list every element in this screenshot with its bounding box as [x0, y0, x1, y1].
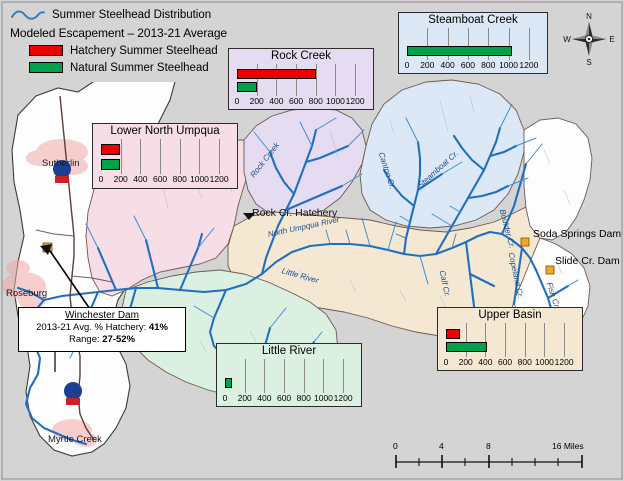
axis-upper-basin: 020040060080010001200 [446, 357, 574, 370]
gridline [304, 359, 305, 393]
legend-natural-row: Natural Summer Steelhead [10, 59, 222, 76]
gridline [316, 64, 317, 96]
bar-natural [237, 82, 257, 92]
tick-label: 800 [309, 96, 323, 106]
scale-label-16-miles: 16 Miles [552, 441, 584, 451]
compass-east-label: E [609, 35, 614, 44]
gridline [264, 359, 265, 393]
scale-label-4: 4 [439, 441, 444, 451]
bar-natural [225, 378, 232, 388]
tick-label: 400 [257, 393, 271, 403]
legend-hatchery-label: Hatchery Summer Steelhead [70, 45, 218, 57]
tick-label: 1200 [210, 174, 229, 184]
tick-label: 400 [478, 357, 492, 367]
tick-label: 0 [405, 60, 410, 70]
compass-north-label: N [586, 12, 592, 21]
stream-wave-icon [10, 8, 46, 22]
chart-steamboat-creek: Steamboat Creek 020040060080010001200 [398, 12, 548, 74]
bar-hatchery [446, 329, 460, 339]
gridline [199, 139, 200, 174]
gridline [140, 139, 141, 174]
tick-label: 600 [289, 96, 303, 106]
tick-label: 200 [459, 357, 473, 367]
gridline [355, 64, 356, 96]
compass-west-label: W [563, 35, 571, 44]
tick-label: 800 [173, 174, 187, 184]
legend-hatchery-row: Hatchery Summer Steelhead [10, 42, 222, 59]
bar-hatchery [101, 144, 120, 155]
plot-area-little-river [225, 359, 353, 393]
chart-title-upper-basin: Upper Basin [438, 308, 582, 323]
axis-little-river: 020040060080010001200 [225, 393, 353, 406]
legend-distribution-row: Summer Steelhead Distribution [10, 6, 222, 24]
plot-area-lower-north-umpqua [101, 139, 229, 174]
scale-bar: 0 4 8 16 Miles [392, 440, 586, 470]
legend-subtitle-row: Modeled Escapement – 2013-21 Average [10, 24, 222, 42]
tick-label: 1000 [314, 393, 333, 403]
gridline [529, 28, 530, 60]
tick-label: 200 [420, 60, 434, 70]
callout-hatchery-prefix: 2013-21 Avg. % Hatchery: [36, 322, 149, 333]
tick-label: 0 [99, 174, 104, 184]
gridline [121, 139, 122, 174]
tick-label: 200 [114, 174, 128, 184]
tick-label: 0 [444, 357, 449, 367]
tick-label: 800 [481, 60, 495, 70]
tick-label: 600 [277, 393, 291, 403]
legend-distribution-label: Summer Steelhead Distribution [52, 9, 211, 21]
winchester-dam-callout: Winchester Dam 2013-21 Avg. % Hatchery: … [18, 307, 186, 352]
map-legend: Summer Steelhead Distribution Modeled Es… [6, 4, 222, 82]
plot-area-rock-creek [237, 64, 365, 96]
tick-label: 1200 [555, 357, 574, 367]
bar-hatchery [237, 69, 316, 79]
tick-label: 800 [518, 357, 532, 367]
bar-natural [101, 159, 120, 170]
gridline [335, 64, 336, 96]
plot-area-steamboat-creek [407, 28, 539, 60]
legend-natural-label: Natural Summer Steelhead [70, 62, 209, 74]
compass-rose-icon: N S E W [560, 6, 618, 68]
compass-south-label: S [586, 58, 591, 67]
chart-rock-creek: Rock Creek 020040060080010001200 [228, 48, 374, 110]
tick-label: 800 [297, 393, 311, 403]
chart-title-steamboat-creek: Steamboat Creek [399, 13, 547, 28]
callout-title: Winchester Dam [19, 310, 185, 322]
tick-label: 600 [153, 174, 167, 184]
tick-label: 1200 [346, 96, 365, 106]
chart-little-river: Little River 020040060080010001200 [216, 343, 362, 407]
bar-natural [446, 342, 487, 352]
callout-range-value: 27-52% [102, 334, 135, 345]
legend-subtitle: Modeled Escapement – 2013-21 Average [10, 26, 227, 40]
gridline [160, 139, 161, 174]
gridline [219, 139, 220, 174]
tick-label: 200 [238, 393, 252, 403]
tick-label: 1000 [535, 357, 554, 367]
tick-label: 1200 [519, 60, 538, 70]
gridline [180, 139, 181, 174]
dam-marker-soda-springs [521, 238, 529, 246]
natural-swatch-icon [29, 62, 63, 73]
tick-label: 200 [250, 96, 264, 106]
gridline [564, 323, 565, 357]
chart-lower-north-umpqua: Lower North Umpqua 020040060080010001200 [92, 123, 238, 189]
map-page: 5 5 Summer Steelhead Distribution Modele… [0, 0, 624, 481]
tick-label: 0 [235, 96, 240, 106]
gridline [525, 323, 526, 357]
tick-label: 1000 [326, 96, 345, 106]
gridline [284, 359, 285, 393]
callout-range-line: Range: 27-52% [19, 334, 185, 346]
dam-marker-slide-creek [546, 266, 554, 274]
tick-label: 400 [269, 96, 283, 106]
axis-lower-north-umpqua: 020040060080010001200 [101, 174, 229, 187]
gridline [343, 359, 344, 393]
tick-label: 400 [133, 174, 147, 184]
plot-area-upper-basin [446, 323, 574, 357]
callout-hatchery-line: 2013-21 Avg. % Hatchery: 41% [19, 322, 185, 334]
tick-label: 1200 [334, 393, 353, 403]
gridline [245, 359, 246, 393]
scale-label-8: 8 [486, 441, 491, 451]
hatchery-swatch-icon [29, 45, 63, 56]
chart-title-lower-north-umpqua: Lower North Umpqua [93, 124, 237, 139]
chart-title-little-river: Little River [217, 344, 361, 359]
tick-label: 600 [461, 60, 475, 70]
gridline [505, 323, 506, 357]
scale-label-0: 0 [393, 441, 398, 451]
gridline [323, 359, 324, 393]
tick-label: 0 [223, 393, 228, 403]
axis-rock-creek: 020040060080010001200 [237, 96, 365, 109]
svg-text:5: 5 [71, 405, 76, 414]
axis-steamboat-creek: 020040060080010001200 [407, 60, 539, 73]
svg-text:5: 5 [60, 183, 65, 192]
chart-title-rock-creek: Rock Creek [229, 49, 373, 64]
tick-label: 600 [498, 357, 512, 367]
gridline [544, 323, 545, 357]
tick-label: 1000 [190, 174, 209, 184]
bar-natural [407, 46, 512, 56]
callout-range-prefix: Range: [69, 334, 102, 345]
chart-upper-basin: Upper Basin 020040060080010001200 [437, 307, 583, 371]
tick-label: 400 [441, 60, 455, 70]
callout-hatchery-value: 41% [149, 322, 168, 333]
tick-label: 1000 [499, 60, 518, 70]
